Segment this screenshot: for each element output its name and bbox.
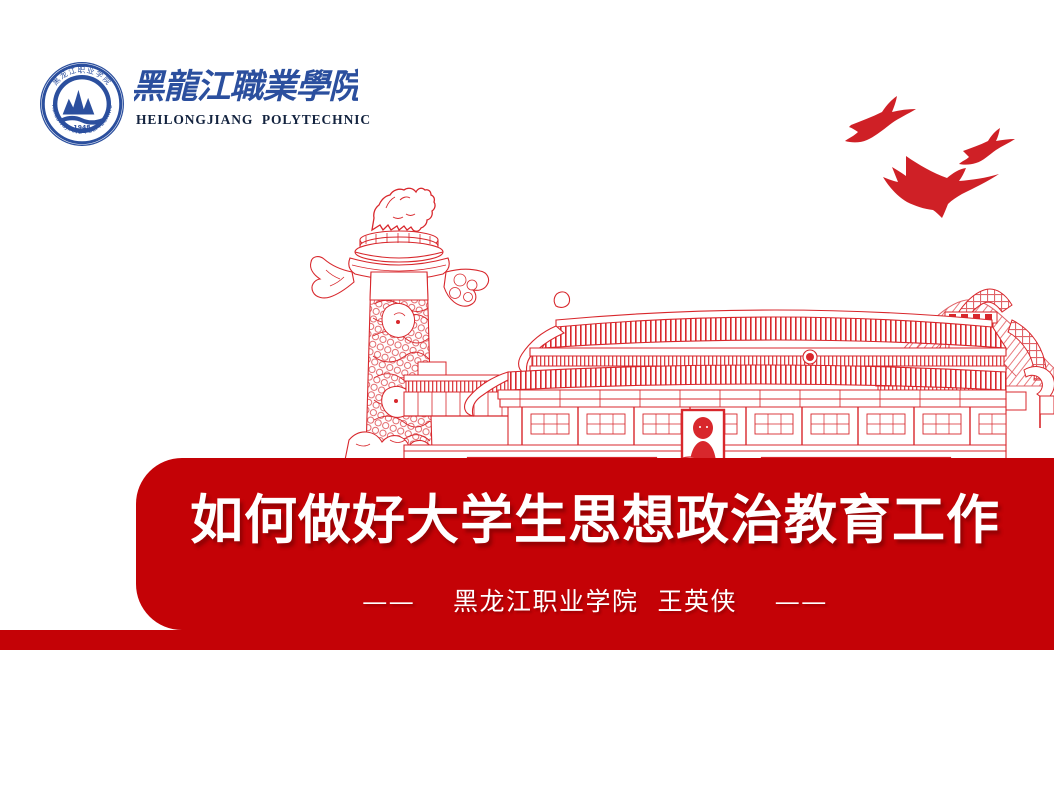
presentation-title-slide: 中华人民共和国万岁 世界人民大团结万岁 1948 黑龙江职业学院 HEILO	[0, 0, 1054, 794]
wall-bastion	[1024, 367, 1054, 400]
university-wordmark: 黑龍江職業學院 HEILONGJIANG POLYTECHNIC	[134, 56, 358, 152]
dove-icon-left	[845, 96, 916, 142]
wall-band	[930, 289, 1012, 382]
university-seal-icon: 1948 黑龙江职业学院 HEILONGJIANG POLYTECHNIC	[38, 60, 126, 148]
banner-bottom-bar	[0, 630, 1054, 650]
huabiao-dragon	[382, 303, 415, 417]
huabiao-plate	[360, 231, 438, 249]
huabiao-cloud-disc	[349, 258, 449, 280]
huabiao-column	[311, 188, 489, 466]
huabiao-beast	[372, 188, 435, 231]
eave-upper-left	[519, 326, 564, 374]
wordmark-chinese: 黑龍江職業學院	[134, 58, 358, 110]
gate-upper-roof	[542, 315, 1006, 348]
huabiao-cloud-right	[444, 269, 489, 306]
flag-group	[996, 392, 1054, 428]
eave-lower-left	[465, 372, 508, 416]
dove-icon-right	[959, 128, 1015, 165]
university-logo: 1948 黑龙江职业学院 HEILONGJIANG POLYTECHNIC 黑龍…	[38, 56, 358, 152]
wall-band-right	[1008, 320, 1046, 380]
wordmark-english: HEILONGJIANG POLYTECHNIC	[136, 112, 360, 128]
watchtower	[945, 312, 997, 366]
page-title: 如何做好大学生思想政治教育工作	[136, 490, 1054, 552]
flanking-buildings	[404, 362, 1054, 428]
mountain-range	[876, 300, 1054, 386]
eave-finial-left	[554, 292, 569, 308]
huabiao-cloud-left	[311, 257, 354, 298]
national-emblem	[803, 350, 817, 364]
doves-group	[845, 96, 1015, 218]
gate-columns	[522, 407, 970, 445]
dove-icon-center	[883, 156, 999, 218]
gate-upper-ridge	[556, 310, 992, 327]
presenter-subtitle: —— 黑龙江职业学院 王英侠 ——	[136, 586, 1054, 618]
svg-text:黑龍江職業學院: 黑龍江職業學院	[134, 67, 358, 107]
great-wall-group	[876, 289, 1054, 400]
mountain-ridge	[890, 326, 1016, 378]
title-banner: 如何做好大学生思想政治教育工作 —— 黑龙江职业学院 王英侠 ——	[0, 450, 1054, 655]
huabiao-shaft	[366, 272, 432, 452]
gate-windows	[531, 414, 1006, 434]
gate-lower-roof	[508, 365, 1006, 390]
